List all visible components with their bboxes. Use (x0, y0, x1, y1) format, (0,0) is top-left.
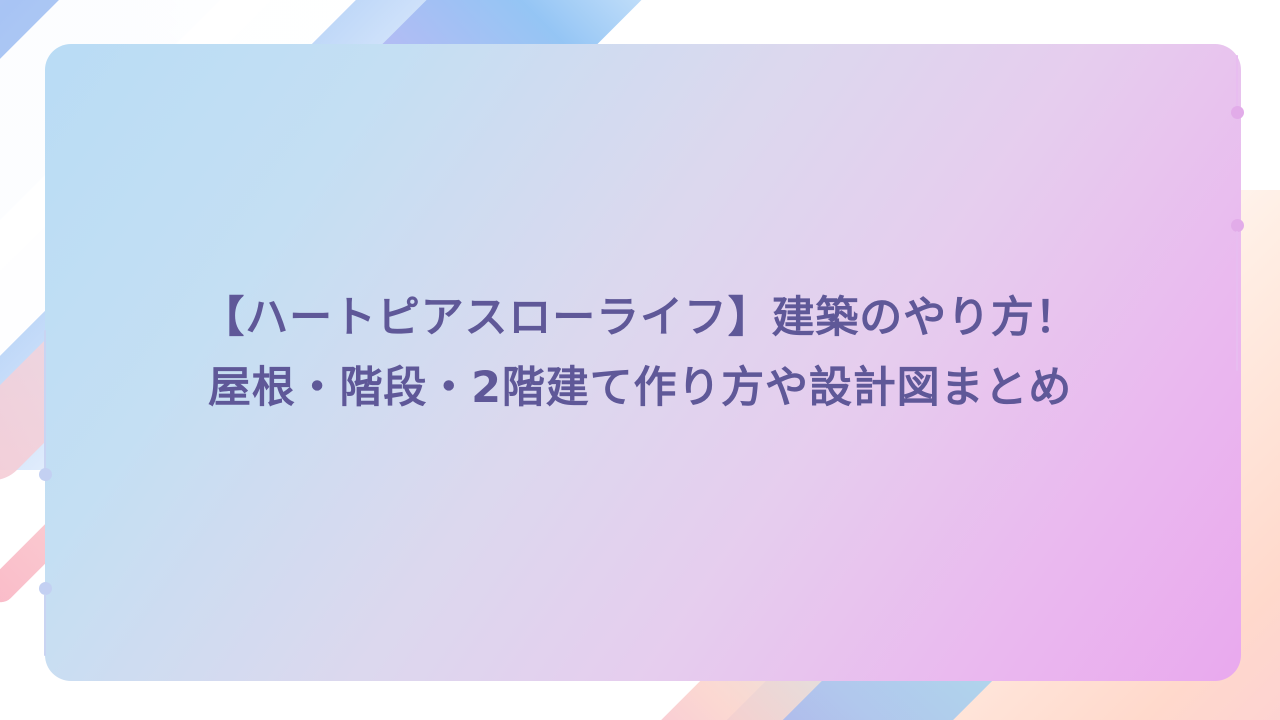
title-line-2: 屋根・階段・2階建て作り方や設計図まとめ (60, 353, 1220, 423)
dot-right-upper (1231, 106, 1244, 119)
capsule-bottom-right-medium (533, 515, 926, 720)
wash-bottom-right (730, 190, 1280, 720)
tick-right-upper (1236, 55, 1238, 113)
thumbnail-card: 【ハートピアスローライフ】建築のやり方！ 屋根・階段・2階建て作り方や設計図まと… (0, 0, 1280, 720)
dot-right-lower (1231, 219, 1244, 232)
tick-left-lower (44, 594, 46, 656)
dot-left-lower (39, 582, 52, 595)
capsule-bottom-right-large (607, 387, 1173, 720)
dot-left-upper (39, 468, 52, 481)
title-line-1: 【ハートピアスローライフ】建築のやり方！ (60, 283, 1220, 353)
page-title: 【ハートピアスローライフ】建築のやり方！ 屋根・階段・2階建て作り方や設計図まと… (0, 283, 1280, 423)
